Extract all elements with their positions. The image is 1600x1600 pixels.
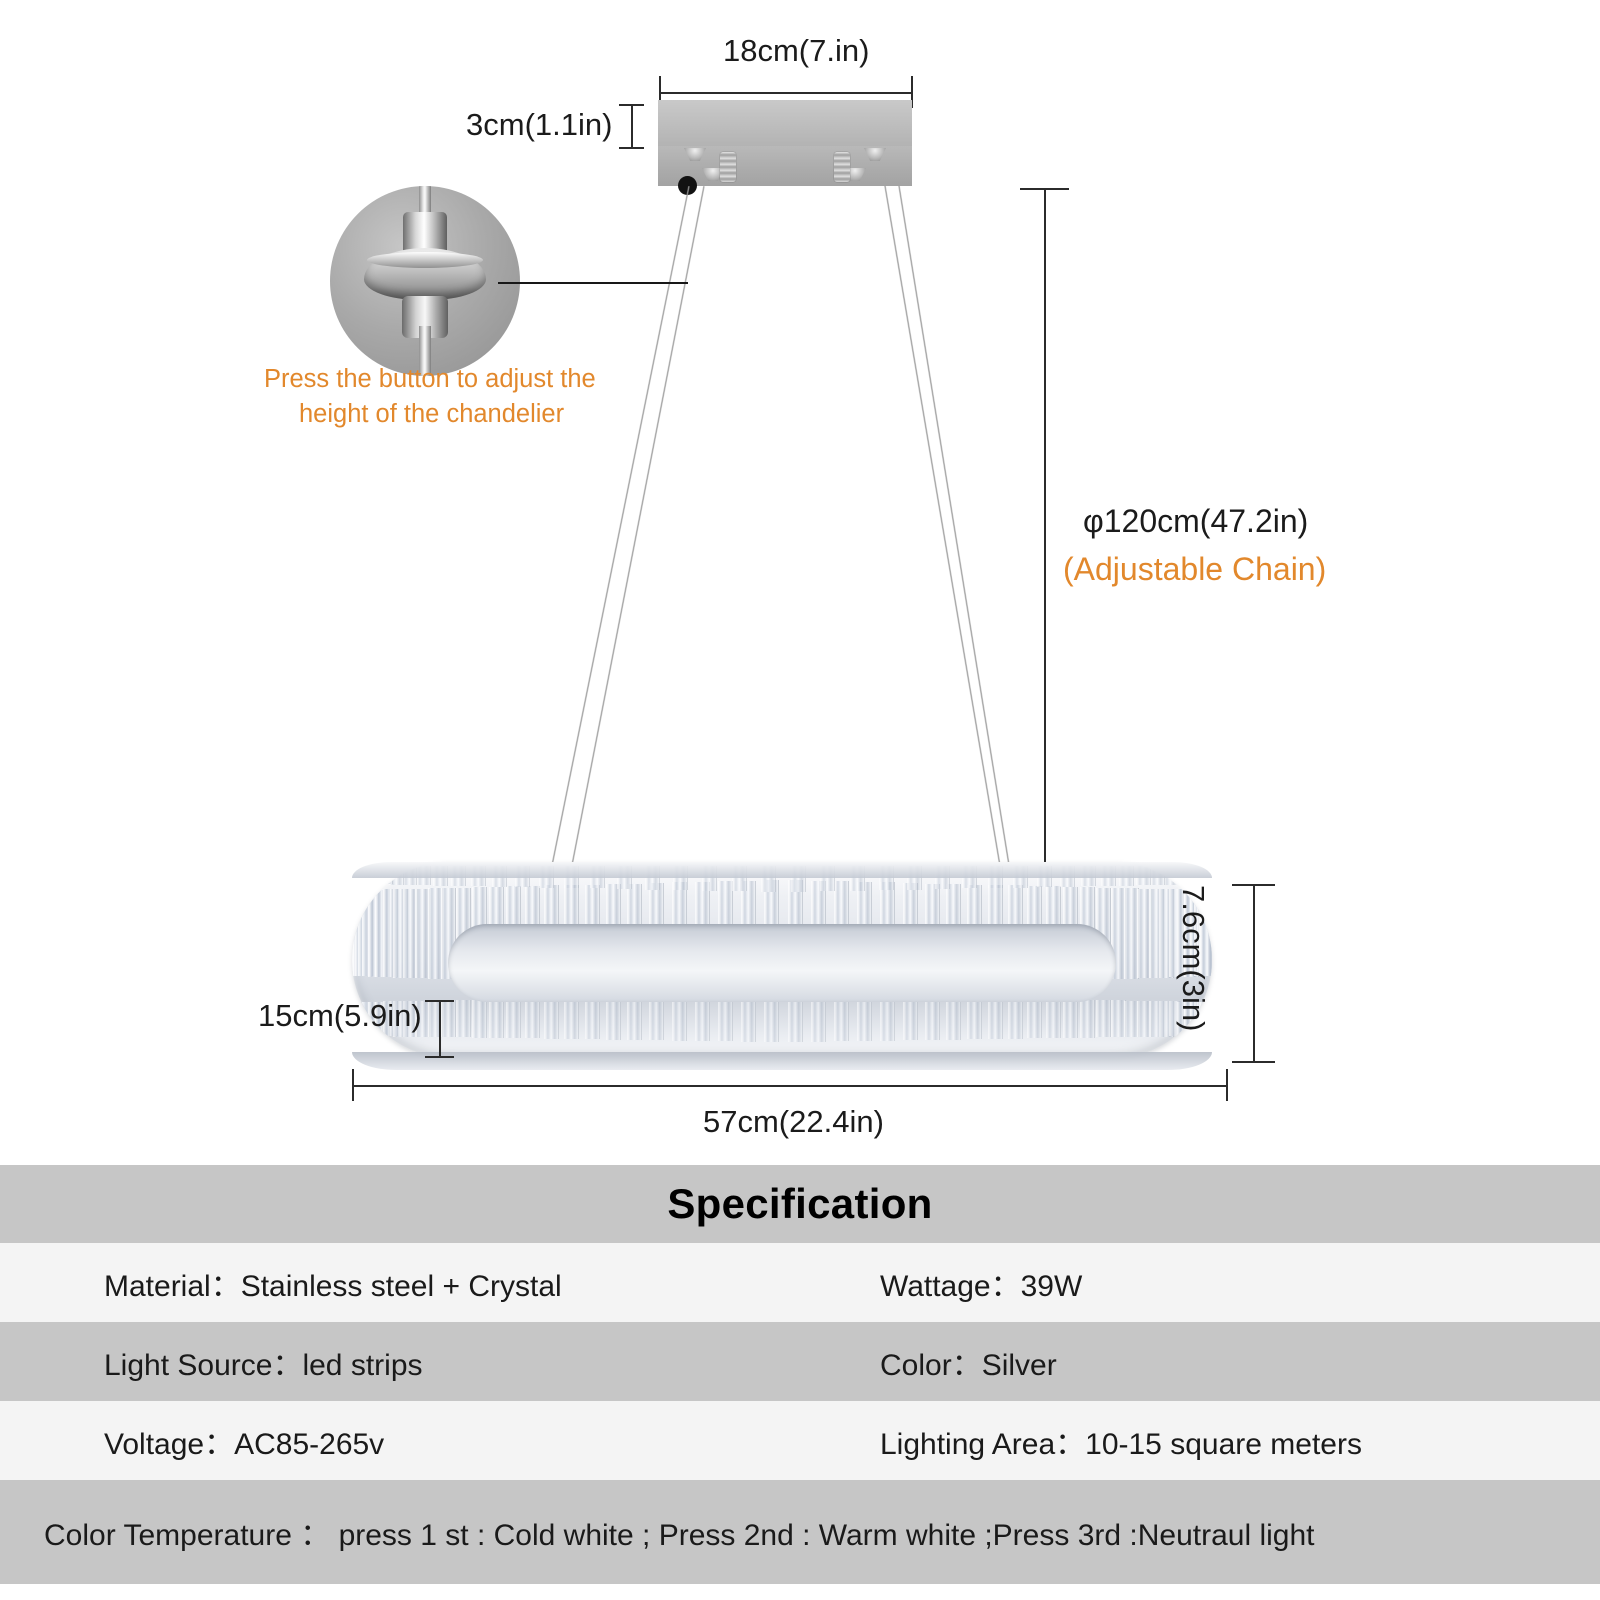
suspension-cable-left-inner	[569, 186, 705, 874]
crystal-prism	[428, 888, 443, 979]
fixture-width-cap-right	[1226, 1069, 1228, 1101]
fixture-inner-width-label: 15cm(5.9in)	[258, 998, 422, 1034]
spec-cell-lighting-area: Lighting Area：10-15 square meters	[880, 1419, 1362, 1463]
ring-top-band	[352, 862, 1212, 878]
spec-cell-color-temperature: Color Temperature ： press 1 st : Cold wh…	[0, 1510, 1315, 1554]
crystal-prism-lower	[606, 997, 621, 1039]
crystal-prism-lower	[1008, 998, 1023, 1038]
spec-label-wattage: Wattage：	[880, 1270, 1021, 1303]
spec-label-material: Material：	[104, 1270, 241, 1303]
crystal-prism-lower	[988, 998, 1003, 1039]
crystal-prism-lower	[544, 998, 559, 1038]
spec-label-lighting-area: Lighting Area：	[880, 1428, 1085, 1461]
gripper-ring-highlight	[367, 252, 483, 268]
product-spec-page: 18cm(7.in) 3cm(1.1in)	[0, 0, 1600, 1600]
fixture-inner-dimline	[439, 1000, 441, 1058]
fixture-width-label: 57cm(22.4in)	[703, 1104, 884, 1140]
spec-value-material: Stainless steel + Crystal	[241, 1270, 562, 1303]
callout-text-line1: Press the button to adjust the	[264, 365, 596, 394]
spec-label-light-source: Light Source：	[104, 1349, 302, 1382]
crystal-prism-lower	[1046, 999, 1061, 1038]
ceiling-canopy-plate	[658, 100, 912, 186]
crystal-prism-lower	[506, 999, 521, 1038]
crystal-prism-lower	[456, 1000, 471, 1037]
crystal-prism-lower	[489, 999, 504, 1038]
canopy-height-cap-top	[619, 104, 644, 106]
spec-value-wattage: 39W	[1021, 1270, 1083, 1303]
crystal-prism-lower	[903, 996, 918, 1040]
specification-table: Specification Material：Stainless steel +…	[0, 1165, 1600, 1584]
crystal-prism-lower	[946, 997, 961, 1039]
crystal-prism-lower	[672, 996, 687, 1041]
chain-length-cap-top	[1020, 188, 1069, 190]
crystal-prism-lower	[1111, 1000, 1126, 1037]
crystal-prism-lower	[525, 999, 540, 1039]
chandelier-dimension-diagram: 18cm(7.in) 3cm(1.1in)	[0, 0, 1600, 1160]
crystal-prism-lower	[585, 998, 600, 1040]
crystal-prism-lower	[834, 995, 849, 1041]
canopy-screw-right	[834, 152, 850, 182]
crystal-prism-lower	[857, 996, 872, 1041]
fixture-height-cap-bottom	[1232, 1061, 1275, 1063]
crystal-prism-lower	[718, 995, 733, 1041]
crystal-prism-lower	[472, 1000, 487, 1038]
fixture-width-dimline	[352, 1085, 1227, 1087]
spec-value-lighting-area: 10-15 square meters	[1085, 1428, 1362, 1461]
fixture-inner-cap-top	[425, 1000, 454, 1002]
spec-cell-wattage: Wattage：39W	[880, 1261, 1082, 1305]
crystal-prism-lower	[925, 997, 940, 1040]
suspension-cable-right-outer	[884, 186, 1003, 877]
chain-length-dimline	[1044, 188, 1046, 870]
spec-cell-voltage: Voltage：AC85-265v	[0, 1419, 880, 1463]
spec-cell-material: Material：Stainless steel + Crystal	[0, 1261, 880, 1305]
specification-title: Specification	[667, 1180, 932, 1228]
canopy-height-label: 3cm(1.1in)	[466, 107, 612, 143]
fixture-height-dimline	[1253, 884, 1255, 1062]
canopy-front-face	[658, 100, 912, 146]
canopy-height-dimline	[631, 104, 633, 148]
spec-value-color: Silver	[982, 1349, 1057, 1382]
chain-length-label: φ120cm(47.2in)	[1083, 503, 1308, 540]
crystal-prism-lower	[441, 1000, 456, 1037]
crystal-chandelier-fixture	[352, 862, 1212, 1070]
spec-label-color: Color：	[880, 1349, 982, 1382]
crystal-prism-lower	[695, 996, 710, 1041]
crystal-prism-lower	[627, 997, 642, 1040]
crystal-prism-lower	[967, 998, 982, 1040]
spec-row-voltage: Voltage：AC85-265v Lighting Area：10-15 sq…	[0, 1401, 1600, 1480]
canopy-width-dimline	[659, 92, 912, 94]
crystal-prism-lower	[880, 996, 895, 1041]
canopy-width-label: 18cm(7.in)	[723, 33, 869, 69]
spec-row-material: Material：Stainless steel + Crystal Watta…	[0, 1243, 1600, 1322]
ring-bottom-band	[352, 1052, 1212, 1070]
spec-cell-color: Color：Silver	[880, 1340, 1057, 1384]
spec-value-voltage: AC85-265v	[234, 1428, 384, 1461]
crystal-prism-lower	[649, 996, 664, 1040]
suspension-cable-right-inner	[898, 186, 1012, 877]
chandelier-inner-opening	[448, 924, 1116, 1002]
fixture-height-label: 7.6cm(3in)	[1175, 885, 1211, 1031]
crystal-prism-lower	[1063, 999, 1078, 1038]
spec-cell-light-source: Light Source：led strips	[0, 1340, 880, 1384]
detail-leader-line	[498, 282, 688, 284]
suspension-cable-left-outer	[550, 186, 691, 873]
spec-label-voltage: Voltage：	[104, 1428, 234, 1461]
specification-header: Specification	[0, 1165, 1600, 1243]
crystal-prism-lower	[1080, 1000, 1095, 1038]
canopy-height-cap-bottom	[619, 147, 644, 149]
chain-adjustable-note: (Adjustable Chain)	[1063, 551, 1326, 588]
fixture-inner-cap-bottom	[425, 1056, 454, 1058]
cable-gripper-detail-photo	[330, 186, 520, 376]
spec-row-light-source: Light Source：led strips Color：Silver	[0, 1322, 1600, 1401]
fixture-width-cap-left	[352, 1069, 354, 1101]
fixture-height-cap-top	[1232, 884, 1275, 886]
canopy-screw-left	[720, 152, 736, 182]
spec-value-light-source: led strips	[302, 1349, 422, 1382]
crystal-prism-lower	[1027, 999, 1042, 1039]
crystal-prism-lower	[1096, 1000, 1111, 1037]
callout-text-line2: height of the chandelier	[299, 400, 564, 429]
spec-row-color-temperature: Color Temperature ： press 1 st : Cold wh…	[0, 1480, 1600, 1584]
crystal-prism-lower	[564, 998, 579, 1039]
